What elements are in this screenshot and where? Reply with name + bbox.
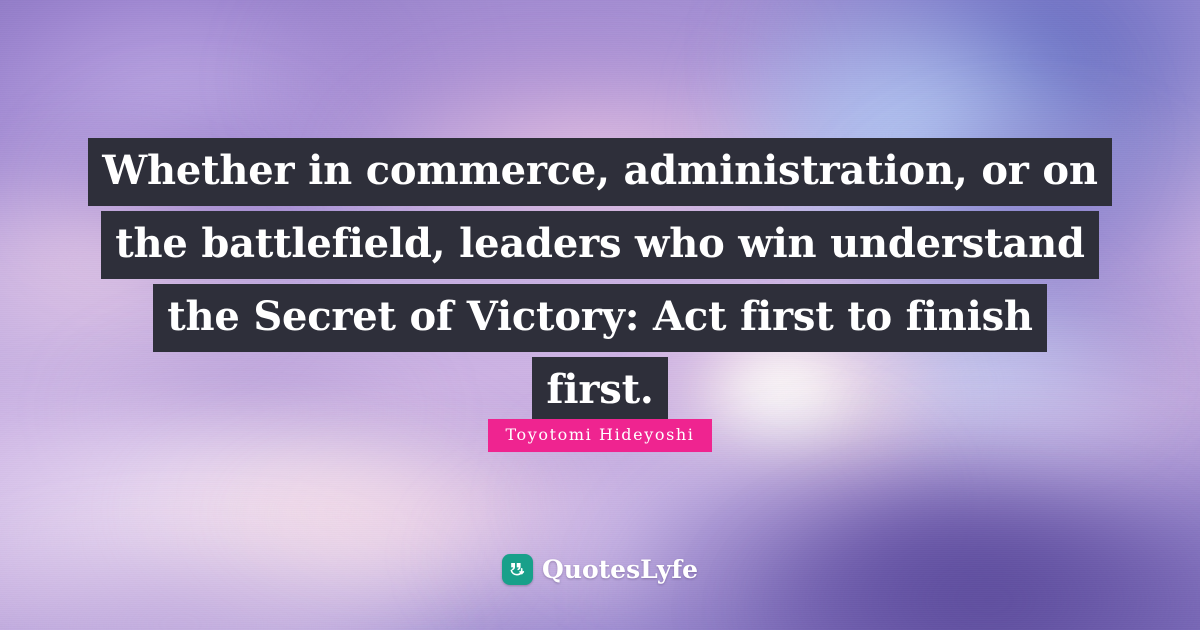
author-name-badge: Toyotomi Hideyoshi	[488, 419, 711, 452]
quote-line: the battlefield, leaders who win underst…	[101, 211, 1099, 279]
quote-smiley-icon	[502, 554, 533, 585]
brand-name: QuotesLyfe	[542, 556, 698, 584]
quote-image-card: Whether in commerce, administration, or …	[0, 0, 1200, 630]
quote-line: first.	[532, 357, 667, 425]
brand-watermark: QuotesLyfe	[0, 554, 1200, 585]
author-attribution: Toyotomi Hideyoshi	[0, 419, 1200, 452]
quote-line: the Secret of Victory: Act first to fini…	[153, 284, 1047, 352]
quote-line: Whether in commerce, administration, or …	[88, 138, 1112, 206]
quote-text-block: Whether in commerce, administration, or …	[0, 138, 1200, 430]
quote-content: Whether in commerce, administration, or …	[0, 0, 1200, 630]
